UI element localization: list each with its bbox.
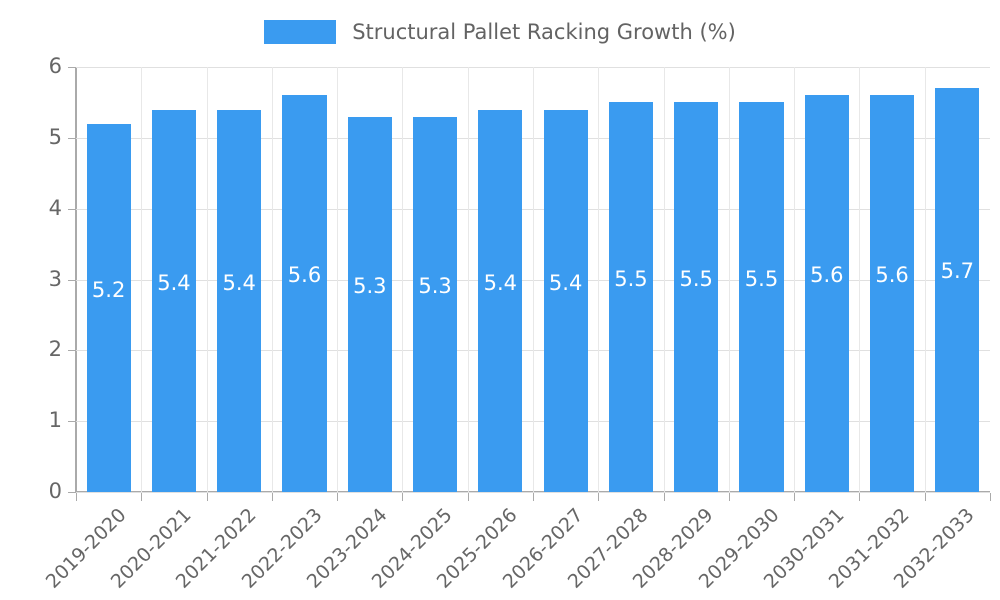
bar[interactable] — [609, 102, 653, 492]
bar-value-label: 5.4 — [217, 273, 261, 294]
gridline-horizontal — [76, 492, 990, 493]
bar[interactable] — [805, 95, 849, 492]
bar-value-label: 5.3 — [413, 276, 457, 297]
gridline-vertical — [598, 67, 599, 492]
bar-value-label: 5.3 — [348, 276, 392, 297]
bar-value-label: 5.5 — [739, 269, 783, 290]
x-tick-mark — [990, 493, 991, 501]
gridline-vertical — [402, 67, 403, 492]
bar[interactable] — [870, 95, 914, 492]
gridline-vertical — [272, 67, 273, 492]
bar-value-label: 5.6 — [870, 265, 914, 286]
x-tick-mark — [533, 493, 534, 501]
x-tick-mark — [272, 493, 273, 501]
gridline-vertical — [729, 67, 730, 492]
bar[interactable] — [348, 117, 392, 492]
y-tick-label: 2 — [32, 339, 62, 360]
x-tick-mark — [76, 493, 77, 501]
bar[interactable] — [935, 88, 979, 492]
y-tick-mark — [68, 421, 76, 422]
bar-value-label: 5.6 — [805, 265, 849, 286]
bar-value-label: 5.4 — [152, 273, 196, 294]
bar-value-label: 5.7 — [935, 261, 979, 282]
bar[interactable] — [413, 117, 457, 492]
y-tick-mark — [68, 67, 76, 68]
legend-color-swatch — [264, 20, 336, 44]
plot-area: 5.25.45.45.65.35.35.45.45.55.55.55.65.65… — [76, 67, 990, 492]
bar[interactable] — [739, 102, 783, 492]
y-tick-mark — [68, 492, 76, 493]
bar[interactable] — [282, 95, 326, 492]
x-tick-mark — [794, 493, 795, 501]
x-tick-mark — [598, 493, 599, 501]
bar-value-label: 5.5 — [674, 269, 718, 290]
gridline-vertical — [141, 67, 142, 492]
x-tick-mark — [925, 493, 926, 501]
x-tick-mark — [207, 493, 208, 501]
y-tick-label: 6 — [32, 56, 62, 77]
y-tick-mark — [68, 209, 76, 210]
x-tick-mark — [859, 493, 860, 501]
bar-value-label: 5.5 — [609, 269, 653, 290]
bar[interactable] — [217, 110, 261, 493]
y-tick-label: 0 — [32, 481, 62, 502]
gridline-vertical — [207, 67, 208, 492]
bar[interactable] — [544, 110, 588, 493]
legend-label: Structural Pallet Racking Growth (%) — [352, 20, 736, 44]
bar-value-label: 5.2 — [87, 280, 131, 301]
x-tick-mark — [402, 493, 403, 501]
gridline-vertical — [337, 67, 338, 492]
gridline-vertical — [533, 67, 534, 492]
y-tick-mark — [68, 138, 76, 139]
bar[interactable] — [87, 124, 131, 492]
y-tick-label: 3 — [32, 269, 62, 290]
chart-legend: Structural Pallet Racking Growth (%) — [0, 14, 1000, 50]
x-tick-mark — [664, 493, 665, 501]
y-tick-mark — [68, 350, 76, 351]
x-tick-mark — [729, 493, 730, 501]
bar[interactable] — [674, 102, 718, 492]
y-tick-label: 4 — [32, 198, 62, 219]
bar-value-label: 5.4 — [544, 273, 588, 294]
x-tick-mark — [141, 493, 142, 501]
bar-value-label: 5.6 — [282, 265, 326, 286]
y-tick-label: 1 — [32, 410, 62, 431]
gridline-vertical — [859, 67, 860, 492]
bar-value-label: 5.4 — [478, 273, 522, 294]
gridline-vertical — [794, 67, 795, 492]
gridline-vertical — [925, 67, 926, 492]
chart-figure: Structural Pallet Racking Growth (%) 012… — [0, 0, 1000, 600]
gridline-vertical — [664, 67, 665, 492]
y-tick-label: 5 — [32, 127, 62, 148]
gridline-vertical — [468, 67, 469, 492]
bar[interactable] — [152, 110, 196, 493]
x-tick-mark — [337, 493, 338, 501]
x-tick-mark — [468, 493, 469, 501]
bar[interactable] — [478, 110, 522, 493]
y-tick-mark — [68, 280, 76, 281]
